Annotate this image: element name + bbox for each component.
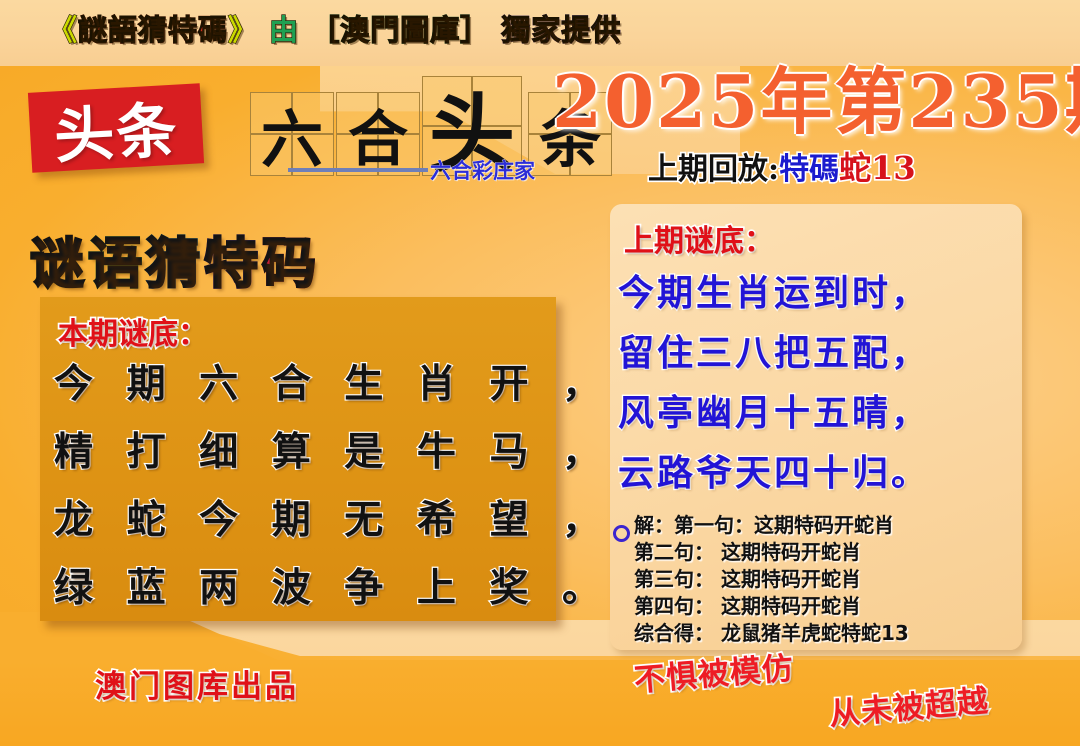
bullet-circle-icon [613,525,630,542]
riddle-main-title: 谜语猜特码 [30,236,320,290]
header-banner: 《謎語猜特碼》 由 ［澳門圖庫］ 獨家提供 [48,16,621,45]
previous-riddle-heading: 上期谜底： [624,216,774,260]
explanation-line-3: 第三句： 这期特码开蛇肖 [634,563,861,592]
header-source-text: ［澳門圖庫］ [310,13,490,47]
logo-char-1: 合 [336,92,420,176]
header-by-text: 由 [258,13,310,47]
explanation-line-2: 第二句： 这期特码开蛇肖 [634,536,861,565]
header-bracket-open: 《 [48,13,78,47]
rainbow-char-2: 猜 [146,231,204,295]
previous-riddle-line-4: 云路爷天四十归。 [618,444,930,496]
current-riddle-line-4: 绿 蓝 两 波 争 上 奖 。 [54,557,611,613]
header-bracket-close: 》 [228,13,258,47]
rainbow-char-4: 码 [262,231,320,295]
current-riddle-line-2: 精 打 细 算 是 牛 马 ， [54,421,611,477]
footer-brand-label: 澳门图库出品 [95,672,299,703]
logo-underline-rule [288,168,428,172]
current-riddle-panel: 本期谜底： 今 期 六 合 生 肖 开 ， 精 打 细 算 是 牛 马 ， 龙 … [40,297,556,621]
header-title-text: 謎語猜特碼 [78,13,228,47]
explanation-line-1: 解：第一句：这期特码开蛇肖 [634,509,894,538]
replay-prefix-label: 上期回放: [648,152,779,187]
previous-riddle-line-2: 留住三八把五配， [618,324,930,376]
logo-char-0: 六 [250,92,334,176]
current-riddle-line-3: 龙 蛇 今 期 无 希 望 ， [54,489,611,545]
rainbow-char-3: 特 [204,231,262,295]
explanation-line-4: 第四句： 这期特码开蛇肖 [634,590,861,619]
toutiao-badge: 头条 [28,83,204,172]
explanation-summary-line: 综合得： 龙鼠猪羊虎蛇特蛇13 [634,617,909,646]
current-riddle-heading: 本期谜底： [58,309,208,353]
toutiao-badge-label: 头条 [28,83,204,172]
replay-special-label: 特碼 [779,152,839,187]
period-title: 2025年第235期 [552,66,1080,138]
sub-brand-label: 六合彩庄家 [430,160,535,181]
header-exclusive-text: 獨家提供 [490,13,621,47]
previous-riddle-panel: 上期谜底： 今期生肖运到时， 留住三八把五配， 风亭幽月十五晴， 云路爷天四十归… [610,204,1022,650]
rainbow-char-1: 语 [88,231,146,295]
current-riddle-line-1: 今 期 六 合 生 肖 开 ， [54,353,611,409]
rainbow-char-0: 谜 [30,231,88,295]
previous-riddle-line-1: 今期生肖运到时， [618,264,930,316]
poster-canvas: 《謎語猜特碼》 由 ［澳門圖庫］ 獨家提供 头条 六 合 头 [0,0,1080,746]
previous-riddle-line-3: 风亭幽月十五晴， [618,384,930,436]
replay-special-value: 蛇13 [839,149,916,187]
last-draw-replay: 上期回放:特碼蛇13 [648,152,916,185]
